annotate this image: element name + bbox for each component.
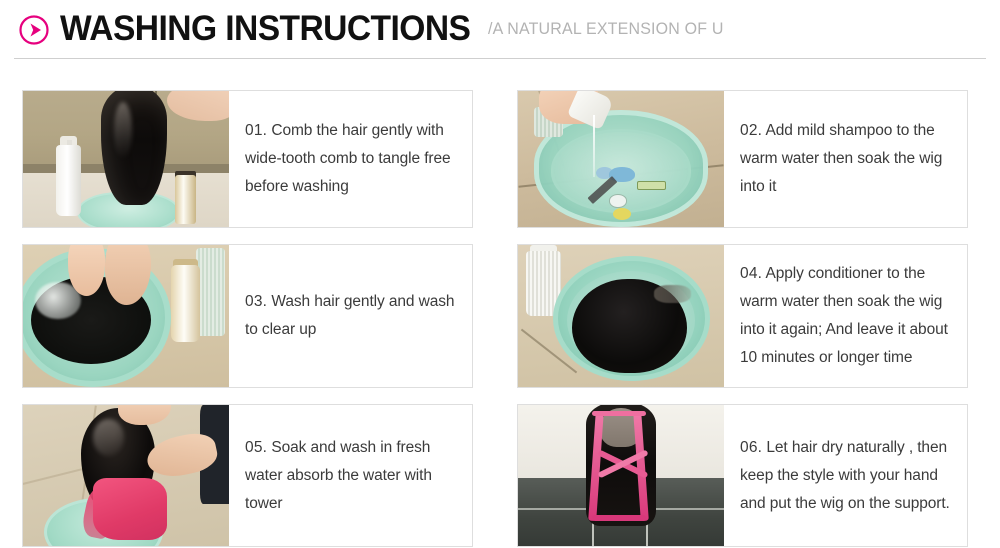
step-number-03: 03. <box>245 293 267 310</box>
photo-comb-hair <box>23 91 229 227</box>
step-number-02: 02. <box>740 122 762 139</box>
step-text-03: Wash hair gently and wash to clear up <box>245 293 454 338</box>
photo-apply-conditioner <box>518 245 724 387</box>
step-caption-01: 01. Comb the hair gently with wide-tooth… <box>229 91 472 227</box>
photo-wig-on-stand <box>518 405 724 546</box>
photo-wash-hair <box>23 245 229 387</box>
step-caption-03: 03. Wash hair gently and wash to clear u… <box>229 245 472 387</box>
step-caption-06: 06. Let hair dry naturally , then keep t… <box>724 405 967 546</box>
step-card-05: 05. Soak and wash in fresh water absorb … <box>22 404 473 547</box>
step-card-02: 02. Add mild shampoo to the warm water t… <box>517 90 968 228</box>
step-card-04: 04. Apply conditioner to the warm water … <box>517 244 968 388</box>
steps-row-1: 01. Comb the hair gently with wide-tooth… <box>22 90 968 228</box>
page-title: WASHING INSTRUCTIONS <box>60 10 470 48</box>
step-text-06: Let hair dry naturally , then keep the s… <box>740 439 950 512</box>
play-circle-icon <box>18 14 50 46</box>
step-text-04: Apply conditioner to the warm water then… <box>740 265 948 366</box>
steps-grid: 01. Comb the hair gently with wide-tooth… <box>22 90 968 547</box>
step-number-06: 06. <box>740 439 762 456</box>
steps-row-2: 03. Wash hair gently and wash to clear u… <box>22 244 968 388</box>
step-card-06: 06. Let hair dry naturally , then keep t… <box>517 404 968 547</box>
step-number-05: 05. <box>245 439 267 456</box>
step-text-02: Add mild shampoo to the warm water then … <box>740 122 942 195</box>
step-text-01: Comb the hair gently with wide-tooth com… <box>245 122 451 195</box>
step-caption-05: 05. Soak and wash in fresh water absorb … <box>229 405 472 546</box>
steps-row-3: 05. Soak and wash in fresh water absorb … <box>22 404 968 547</box>
step-card-03: 03. Wash hair gently and wash to clear u… <box>22 244 473 388</box>
photo-towel-dry <box>23 405 229 546</box>
step-caption-04: 04. Apply conditioner to the warm water … <box>724 245 967 387</box>
step-card-01: 01. Comb the hair gently with wide-tooth… <box>22 90 473 228</box>
page-subtitle: /A NATURAL EXTENSION OF U <box>488 10 724 48</box>
step-text-05: Soak and wash in fresh water absorb the … <box>245 439 432 512</box>
step-number-01: 01. <box>245 122 267 139</box>
washing-instructions-page: WASHING INSTRUCTIONS /A NATURAL EXTENSIO… <box>0 0 1000 548</box>
step-number-04: 04. <box>740 265 762 282</box>
step-caption-02: 02. Add mild shampoo to the warm water t… <box>724 91 967 227</box>
photo-add-shampoo <box>518 91 724 227</box>
header-divider <box>14 58 986 59</box>
page-header: WASHING INSTRUCTIONS /A NATURAL EXTENSIO… <box>0 0 1000 58</box>
